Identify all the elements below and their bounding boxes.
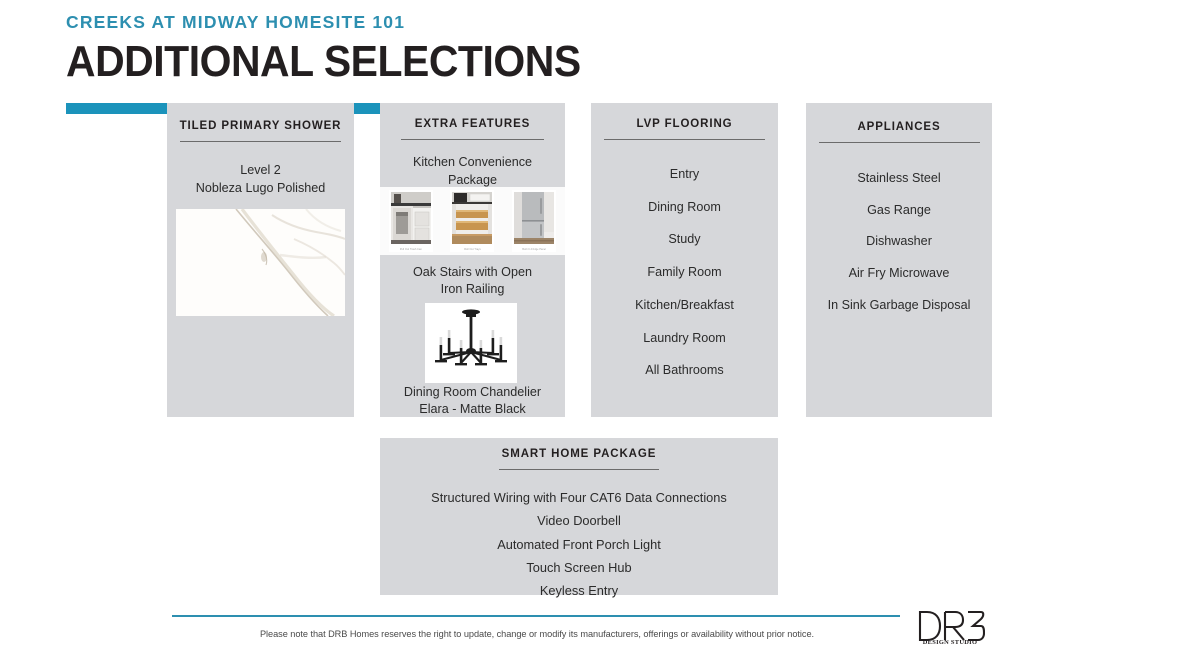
card-title-tiled-primary-shower: TILED PRIMARY SHOWER	[167, 120, 354, 132]
list-item: All Bathrooms	[591, 363, 778, 379]
kitchen-convenience-images: Pull Out Trash Can Roll Out Trays	[380, 187, 565, 255]
list-item: Automated Front Porch Light	[380, 533, 778, 556]
page-header: CREEKS AT MIDWAY HOMESITE 101 ADDITIONAL…	[66, 14, 666, 88]
chandelier-line-1: Dining Room Chandelier	[380, 384, 565, 401]
footer-divider	[172, 615, 900, 617]
list-item: Touch Screen Hub	[380, 556, 778, 579]
list-item: Family Room	[591, 265, 778, 281]
list-item: Stainless Steel	[806, 171, 992, 187]
side-by-side-fridge-panel-icon	[512, 190, 556, 248]
drb-logo-subtitle: DESIGN STUDIO	[915, 639, 985, 646]
kitchen-thumb-fridge-panel: Built In Fridge Panel	[512, 190, 556, 252]
kitchen-thumb-caption: Roll Out Trays	[450, 248, 494, 251]
chandelier-image	[425, 303, 517, 383]
list-item: In Sink Garbage Disposal	[806, 298, 992, 314]
card-divider	[180, 141, 341, 142]
marble-tile-swatch-image	[176, 209, 345, 316]
appliances-list: Stainless Steel Gas Range Dishwasher Air…	[806, 171, 992, 314]
kitchen-package-label: Kitchen Convenience Package	[380, 154, 565, 189]
kitchen-thumb-pull-out-trash: Pull Out Trash Can	[389, 190, 433, 252]
list-item: Entry	[591, 167, 778, 183]
pull-out-trash-cabinet-icon	[389, 190, 433, 248]
list-item: Kitchen/Breakfast	[591, 298, 778, 314]
page-title-wrap: ADDITIONAL SELECTIONS	[66, 40, 666, 88]
list-item: Air Fry Microwave	[806, 266, 992, 282]
oak-stairs-line-1: Oak Stairs with Open	[380, 264, 565, 281]
chandelier-label: Dining Room Chandelier Elara - Matte Bla…	[380, 384, 565, 418]
card-divider	[401, 139, 544, 140]
card-title-lvp-flooring: LVP FLOORING	[591, 118, 778, 130]
kitchen-thumb-roll-out-trays: Roll Out Trays	[450, 190, 494, 252]
kitchen-thumb-caption: Built In Fridge Panel	[512, 248, 556, 251]
card-title-appliances: APPLIANCES	[806, 121, 992, 133]
list-item: Structured Wiring with Four CAT6 Data Co…	[380, 486, 778, 509]
card-title-extra-features: EXTRA FEATURES	[380, 118, 565, 130]
list-item: Video Doorbell	[380, 509, 778, 532]
page-title: ADDITIONAL SELECTIONS	[66, 40, 581, 84]
shower-selection-text: Level 2 Nobleza Lugo Polished	[167, 161, 354, 198]
card-divider	[499, 469, 659, 470]
list-item: Keyless Entry	[380, 579, 778, 602]
list-item: Dishwasher	[806, 234, 992, 250]
card-appliances: APPLIANCES Stainless Steel Gas Range Dis…	[806, 103, 992, 417]
oak-stairs-label: Oak Stairs with Open Iron Railing	[380, 264, 565, 298]
shower-level: Level 2	[167, 161, 354, 179]
chandelier-icon	[425, 303, 517, 383]
chandelier-line-2: Elara - Matte Black	[380, 401, 565, 418]
card-divider	[819, 142, 980, 143]
shower-tile-name: Nobleza Lugo Polished	[167, 179, 354, 197]
roll-out-trays-icon	[450, 190, 494, 248]
card-extra-features: EXTRA FEATURES Kitchen Convenience Packa…	[380, 103, 565, 417]
marble-tile-svg	[176, 209, 345, 316]
footer-disclaimer: Please note that DRB Homes reserves the …	[172, 629, 902, 639]
smart-home-list: Structured Wiring with Four CAT6 Data Co…	[380, 486, 778, 602]
card-title-smart-home-package: SMART HOME PACKAGE	[380, 448, 778, 460]
community-homesite-label: CREEKS AT MIDWAY HOMESITE 101	[66, 14, 666, 32]
kitchen-package-line-1: Kitchen Convenience	[380, 154, 565, 172]
list-item: Gas Range	[806, 203, 992, 219]
card-tiled-primary-shower: TILED PRIMARY SHOWER Level 2 Nobleza Lug…	[167, 103, 354, 417]
list-item: Laundry Room	[591, 331, 778, 347]
card-lvp-flooring: LVP FLOORING Entry Dining Room Study Fam…	[591, 103, 778, 417]
card-divider	[604, 139, 765, 140]
lvp-flooring-list: Entry Dining Room Study Family Room Kitc…	[591, 167, 778, 379]
list-item: Dining Room	[591, 200, 778, 216]
oak-stairs-line-2: Iron Railing	[380, 281, 565, 298]
kitchen-thumb-caption: Pull Out Trash Can	[389, 248, 433, 251]
card-smart-home-package: SMART HOME PACKAGE Structured Wiring wit…	[380, 438, 778, 595]
list-item: Study	[591, 232, 778, 248]
